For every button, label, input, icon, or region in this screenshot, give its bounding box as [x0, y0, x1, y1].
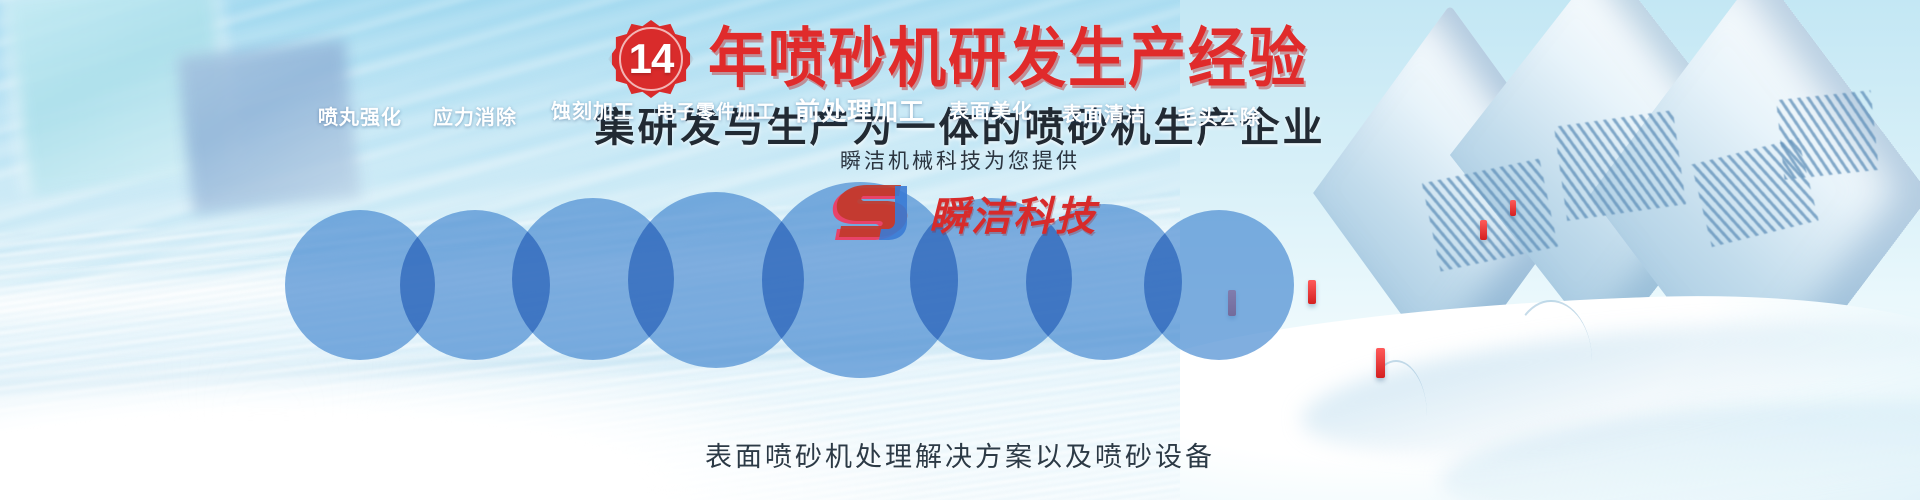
- promo-banner: 14 年喷砂机研发生产经验 集研发与生产为一体的喷砂机生产企业 瞬洁机械科技为您…: [0, 0, 1920, 500]
- logo-wordmark: 瞬洁科技: [929, 184, 1097, 242]
- footer-caption: 表面喷砂机处理解决方案以及喷砂设备: [0, 435, 1920, 474]
- brand-logo[interactable]: 瞬洁科技: [0, 182, 1920, 244]
- years-badge: 14: [612, 20, 690, 98]
- sj-monogram-icon: [823, 182, 915, 244]
- badge-number: 14: [629, 38, 674, 80]
- headline-text: 年喷砂机研发生产经验: [708, 27, 1308, 92]
- headline-row: 14 年喷砂机研发生产经验: [0, 20, 1920, 98]
